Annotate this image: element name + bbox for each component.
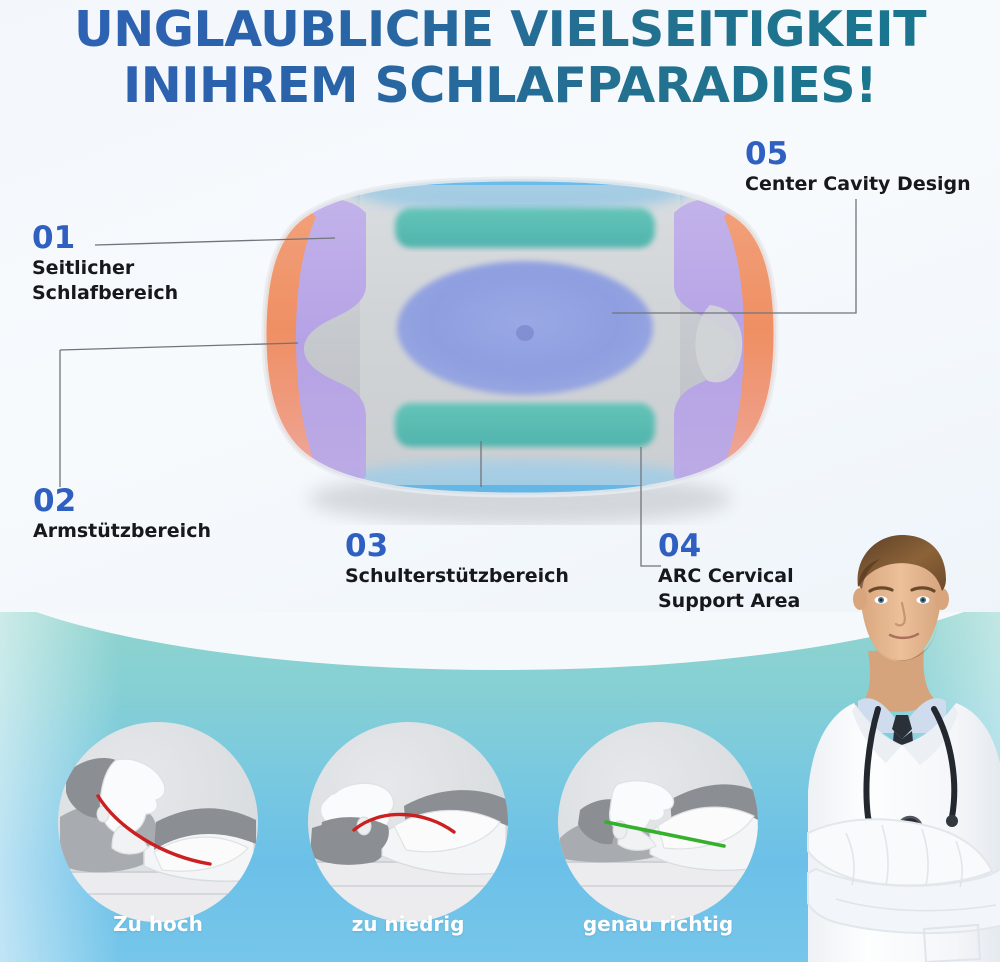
callout-02-label: Armstützbereich bbox=[33, 519, 211, 544]
callout-03-number: 03 bbox=[345, 530, 569, 562]
callout-01-number: 01 bbox=[32, 222, 178, 254]
doctor-photo bbox=[806, 533, 1000, 962]
comparison-item-too-high[interactable] bbox=[58, 722, 258, 922]
callout-04-label: ARC Cervical Support Area bbox=[658, 564, 800, 614]
callout-02-number: 02 bbox=[33, 485, 211, 517]
posture-illustration-too-high bbox=[58, 722, 258, 922]
posture-illustration-just-right bbox=[558, 722, 758, 922]
comparison-caption-too-high: Zu hoch bbox=[28, 912, 288, 936]
callout-04[interactable]: 04 ARC Cervical Support Area bbox=[658, 530, 800, 614]
callout-05[interactable]: 05 Center Cavity Design bbox=[745, 138, 971, 197]
posture-illustration-too-low bbox=[308, 722, 508, 922]
comparison-caption-too-low: zu niedrig bbox=[278, 912, 538, 936]
callout-04-number: 04 bbox=[658, 530, 800, 562]
callout-01-label: Seitlicher Schlafbereich bbox=[32, 256, 178, 306]
leader-line-05 bbox=[612, 199, 856, 313]
comparison-caption-just-right: genau richtig bbox=[528, 912, 788, 936]
comparison-item-just-right[interactable] bbox=[558, 722, 758, 922]
callout-05-number: 05 bbox=[745, 138, 971, 170]
callout-05-label: Center Cavity Design bbox=[745, 172, 971, 197]
callout-02[interactable]: 02 Armstützbereich bbox=[33, 485, 211, 544]
callout-01[interactable]: 01 Seitlicher Schlafbereich bbox=[32, 222, 178, 306]
comparison-item-too-low[interactable] bbox=[308, 722, 508, 922]
callout-03[interactable]: 03 Schulterstützbereich bbox=[345, 530, 569, 589]
callout-03-label: Schulterstützbereich bbox=[345, 564, 569, 589]
promo-image: UNGLAUBLICHE VIELSEITIGKEIT INIHREM SCHL… bbox=[0, 0, 1000, 962]
leader-line-02-horizontal bbox=[60, 343, 298, 350]
